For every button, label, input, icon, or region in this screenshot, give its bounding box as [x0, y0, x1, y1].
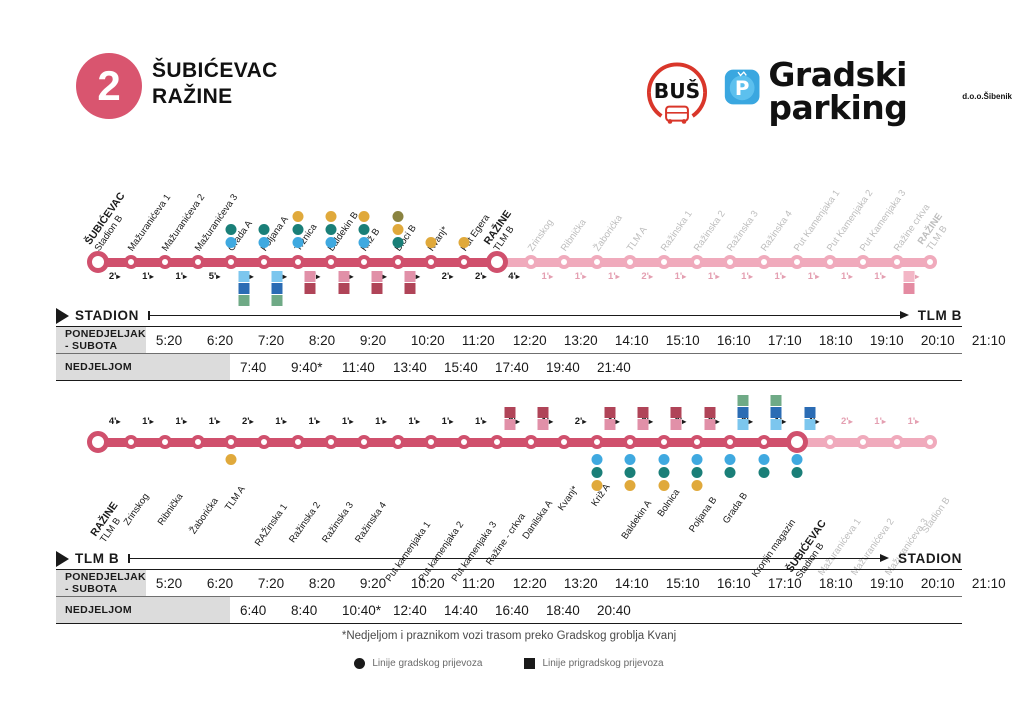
city-line-markers — [292, 211, 303, 248]
city-line-markers — [592, 454, 603, 491]
city-line-dot — [725, 454, 736, 465]
route-diagram-direction-2: 4'▸1'▸1'▸1'▸2'▸1'▸1'▸1'▸1'▸1'▸1'▸1'▸2'▸1… — [0, 400, 1018, 540]
suburban-line-markers — [505, 407, 516, 430]
table-row: NEDJELJOM6:408:4010:40*12:4014:4016:4018… — [56, 597, 962, 624]
stop-marker[interactable] — [224, 435, 238, 449]
suburban-line-markers — [272, 271, 283, 306]
parking-logo-subtext: d.o.o.Šibenik — [962, 92, 1012, 101]
suburban-line-square — [604, 407, 615, 418]
suburban-line-markers — [238, 271, 249, 306]
departure-time: 11:20 — [462, 576, 513, 591]
city-line-markers — [325, 211, 336, 248]
city-line-dot — [259, 237, 270, 248]
travel-time-8: 1'▸ — [342, 416, 354, 427]
departure-time: 10:40* — [342, 603, 393, 618]
suburban-line-markers — [338, 271, 349, 294]
stop-marker[interactable] — [890, 255, 904, 269]
departure-time: 13:40 — [393, 360, 444, 375]
suburban-line-square — [405, 283, 416, 294]
footnote: *Nedjeljom i praznikom vozi trasom preko… — [0, 630, 1018, 642]
gradski-parking-logo: P Gradski parking d.o.o.Šibenik — [724, 58, 1018, 118]
table-row: PONEDJELJAK - SUBOTA5:206:207:208:209:20… — [56, 570, 962, 597]
stop-marker[interactable] — [557, 255, 571, 269]
stop-label: Ražinska 4 — [353, 500, 389, 545]
stop-marker[interactable] — [357, 435, 371, 449]
timetable-1-header: STADION TLM B — [56, 305, 962, 327]
departure-time: 6:20 — [207, 576, 258, 591]
suburban-line-square — [704, 419, 715, 430]
suburban-line-markers — [704, 407, 715, 430]
stop-label: Ribnička — [155, 491, 185, 527]
city-line-dot — [425, 237, 436, 248]
stop-marker[interactable] — [790, 255, 804, 269]
suburban-line-square — [405, 271, 416, 282]
square-marker-icon — [524, 658, 535, 669]
city-line-dot — [459, 237, 470, 248]
city-line-dot — [592, 467, 603, 478]
stop-marker[interactable] — [291, 435, 305, 449]
suburban-line-markers — [737, 395, 748, 430]
travel-time-2: 1'▸ — [142, 416, 154, 427]
stop-label: RAŽINETLM B — [482, 208, 524, 254]
travel-time-12: 2'▸ — [475, 271, 487, 282]
departure-time: 10:20 — [411, 576, 462, 591]
city-line-dot — [226, 224, 237, 235]
suburban-line-markers — [405, 271, 416, 294]
schedule-times: 5:206:207:208:209:2010:2011:2012:2013:20… — [146, 327, 1018, 353]
stop-marker[interactable] — [657, 255, 671, 269]
departure-time: 18:40 — [546, 603, 597, 618]
city-line-markers — [791, 454, 802, 478]
suburban-line-markers — [604, 407, 615, 430]
stop-label: TLM A — [223, 484, 248, 513]
travel-time-1: 2'▸ — [109, 271, 121, 282]
departure-time: 12:20 — [513, 576, 564, 591]
legend-suburban-label: Linije prigradskog prijevoza — [542, 658, 663, 669]
city-line-markers — [392, 211, 403, 248]
stop-marker[interactable] — [391, 255, 405, 269]
suburban-line-square — [604, 419, 615, 430]
stop-label: Ribnička — [559, 217, 589, 253]
city-line-dot — [359, 237, 370, 248]
stop-marker[interactable] — [490, 435, 504, 449]
city-line-dot — [758, 467, 769, 478]
stop-label: Poljana B — [687, 495, 720, 535]
travel-time-19: 1'▸ — [708, 271, 720, 282]
stop-marker[interactable] — [856, 435, 870, 449]
parking-logo-text: Gradski parking — [768, 58, 1018, 124]
departure-time: 16:10 — [717, 576, 768, 591]
suburban-line-square — [638, 407, 649, 418]
departure-time: 8:20 — [309, 333, 360, 348]
departure-time: 20:10 — [921, 333, 972, 348]
travel-time-1: 4'▸ — [109, 416, 121, 427]
stop-marker[interactable] — [757, 255, 771, 269]
stop-marker[interactable] — [424, 435, 438, 449]
departure-time: 6:20 — [207, 333, 258, 348]
legend-item-city-lines: Linije gradskog prijevoza — [354, 658, 482, 669]
suburban-line-markers — [538, 407, 549, 430]
travel-time-24: 1'▸ — [874, 416, 886, 427]
departure-time: 13:20 — [564, 576, 615, 591]
city-line-dot — [625, 454, 636, 465]
timetable-1-destination: TLM B — [918, 308, 962, 323]
departure-time: 14:10 — [615, 333, 666, 348]
stop-marker[interactable] — [923, 435, 937, 449]
suburban-line-square — [305, 283, 316, 294]
suburban-line-square — [804, 419, 815, 430]
departure-time: 10:20 — [411, 333, 462, 348]
city-line-markers — [658, 454, 669, 491]
travel-time-9: 1'▸ — [375, 416, 387, 427]
schedule-times: 6:408:4010:40*12:4014:4016:4018:4020:40 — [230, 597, 962, 623]
city-line-markers — [725, 454, 736, 478]
schedule-day-label: NEDJELJOM — [56, 354, 230, 380]
suburban-line-square — [771, 395, 782, 406]
city-line-markers — [625, 454, 636, 491]
suburban-line-square — [737, 407, 748, 418]
parking-p-icon: P — [724, 66, 760, 108]
city-line-dot — [692, 480, 703, 491]
stop-marker[interactable] — [87, 251, 109, 273]
travel-time-15: 1'▸ — [575, 271, 587, 282]
stop-label: RAŽinska 1 — [253, 502, 290, 549]
stop-marker[interactable] — [158, 255, 172, 269]
departure-time: 9:40* — [291, 360, 342, 375]
city-line-dot — [658, 454, 669, 465]
stop-marker[interactable] — [324, 255, 338, 269]
city-line-dot — [292, 224, 303, 235]
stop-marker[interactable] — [623, 435, 637, 449]
svg-text:P: P — [735, 77, 750, 100]
city-line-markers — [226, 454, 237, 465]
stop-marker[interactable] — [124, 255, 138, 269]
suburban-line-square — [737, 395, 748, 406]
stop-marker[interactable] — [590, 435, 604, 449]
travel-time-25: 1'▸ — [908, 416, 920, 427]
departure-time: 19:40 — [546, 360, 597, 375]
stop-marker[interactable] — [324, 435, 338, 449]
city-line-markers — [692, 454, 703, 491]
stop-marker[interactable] — [87, 431, 109, 453]
stop-marker[interactable] — [191, 255, 205, 269]
timetable-2-header: TLM B STADION — [56, 548, 962, 570]
travel-time-24: 1'▸ — [874, 271, 886, 282]
stop-marker[interactable] — [257, 255, 271, 269]
suburban-line-square — [505, 407, 516, 418]
departure-time: 11:20 — [462, 333, 513, 348]
stop-marker[interactable] — [786, 431, 808, 453]
stop-marker[interactable] — [124, 435, 138, 449]
stop-marker[interactable] — [391, 435, 405, 449]
departure-time: 21:10 — [972, 333, 1018, 348]
departure-time: 17:40 — [495, 360, 546, 375]
schedule-times: 5:206:207:208:209:2010:2011:2012:2013:20… — [146, 570, 1018, 596]
timetable-2-origin: TLM B — [75, 551, 119, 566]
city-line-markers — [226, 224, 237, 248]
table-row: PONEDJELJAK - SUBOTA5:206:207:208:209:20… — [56, 327, 962, 354]
stop-label: TLM A — [625, 225, 650, 254]
timetable-1-origin: STADION — [75, 308, 139, 323]
stop-marker[interactable] — [823, 435, 837, 449]
departure-time: 20:10 — [921, 576, 972, 591]
stop-label: Ražinska 1 — [659, 209, 695, 254]
stop-label: Žaborićka — [188, 496, 221, 537]
suburban-line-square — [538, 407, 549, 418]
city-line-dot — [226, 237, 237, 248]
suburban-line-square — [804, 407, 815, 418]
city-line-dot — [692, 467, 703, 478]
suburban-line-markers — [904, 271, 915, 294]
city-line-dot — [392, 237, 403, 248]
stop-label: Ražinska 3 — [725, 209, 761, 254]
stop-marker[interactable] — [524, 435, 538, 449]
suburban-line-square — [671, 407, 682, 418]
city-line-dot — [325, 237, 336, 248]
suburban-line-square — [338, 271, 349, 282]
stop-marker[interactable] — [191, 435, 205, 449]
departure-time: 5:20 — [156, 333, 207, 348]
legend-city-label: Linije gradskog prijevoza — [372, 658, 482, 669]
play-triangle-icon — [56, 308, 69, 324]
schedule-day-label: NEDJELJOM — [56, 597, 230, 623]
stop-marker[interactable] — [590, 255, 604, 269]
stop-marker[interactable] — [757, 435, 771, 449]
travel-time-18: 1'▸ — [675, 271, 687, 282]
schedule-day-label: PONEDJELJAK - SUBOTA — [56, 570, 146, 596]
travel-time-16: 1'▸ — [608, 271, 620, 282]
travel-time-11: 2'▸ — [442, 271, 454, 282]
stop-marker[interactable] — [723, 255, 737, 269]
stop-label: Bolnica — [655, 487, 682, 519]
travel-time-23: 1'▸ — [841, 271, 853, 282]
stop-marker[interactable] — [856, 255, 870, 269]
city-line-markers — [425, 237, 436, 248]
city-line-dot — [791, 467, 802, 478]
suburban-line-square — [704, 407, 715, 418]
stop-label: Stadion B — [920, 495, 953, 535]
city-line-dot — [592, 480, 603, 491]
city-line-dot — [359, 211, 370, 222]
city-line-dot — [292, 237, 303, 248]
stop-label: Ražinska 3 — [320, 500, 356, 545]
suburban-line-markers — [804, 407, 815, 430]
route-title-line1: ŠUBIĆEVAC — [152, 58, 278, 84]
stop-marker[interactable] — [486, 251, 508, 273]
route-title-line2: RAŽINE — [152, 84, 278, 110]
suburban-line-square — [238, 271, 249, 282]
page-header: 2 ŠUBIĆEVAC RAŽINE BUŠ P Gradski parking… — [0, 0, 1018, 150]
suburban-line-markers — [638, 407, 649, 430]
suburban-line-square — [671, 419, 682, 430]
departure-time: 21:40 — [597, 360, 648, 375]
legend: Linije gradskog prijevoza Linije prigrad… — [0, 658, 1018, 669]
stop-marker[interactable] — [357, 255, 371, 269]
page-title: ŠUBIĆEVAC RAŽINE — [152, 58, 278, 109]
suburban-line-markers — [371, 271, 382, 294]
stop-label: Ražinska 2 — [287, 500, 323, 545]
schedule-times: 7:409:40*11:4013:4015:4017:4019:4021:40 — [230, 354, 962, 380]
departure-time: 15:10 — [666, 333, 717, 348]
suburban-line-markers — [671, 407, 682, 430]
stop-marker[interactable] — [224, 255, 238, 269]
travel-time-22: 1'▸ — [808, 271, 820, 282]
suburban-line-square — [638, 419, 649, 430]
departure-time: 20:40 — [597, 603, 648, 618]
departure-time: 17:10 — [768, 333, 819, 348]
suburban-line-square — [371, 283, 382, 294]
stop-label: Grada B — [721, 491, 750, 526]
stop-label: Baldekin A — [620, 498, 655, 541]
travel-time-4: 5'▸ — [209, 271, 221, 282]
travel-time-17: 2'▸ — [641, 271, 653, 282]
city-line-markers — [259, 224, 270, 248]
travel-time-2: 1'▸ — [142, 271, 154, 282]
departure-time: 18:10 — [819, 333, 870, 348]
departure-time: 15:40 — [444, 360, 495, 375]
direction-arrow — [148, 310, 909, 322]
stop-label: Kvanj* — [556, 484, 581, 513]
suburban-line-square — [538, 419, 549, 430]
suburban-line-square — [737, 419, 748, 430]
departure-time: 8:40 — [291, 603, 342, 618]
stop-marker[interactable] — [457, 255, 471, 269]
stop-marker[interactable] — [923, 255, 937, 269]
departure-time: 19:10 — [870, 576, 921, 591]
departure-time: 13:20 — [564, 333, 615, 348]
departure-time: 17:10 — [768, 576, 819, 591]
stop-label: Ražinska 4 — [758, 209, 794, 254]
departure-time: 16:40 — [495, 603, 546, 618]
stop-marker[interactable] — [291, 255, 305, 269]
suburban-line-square — [272, 271, 283, 282]
departure-time: 6:40 — [240, 603, 291, 618]
departure-time: 19:10 — [870, 333, 921, 348]
travel-time-4: 1'▸ — [209, 416, 221, 427]
circle-marker-icon — [354, 658, 365, 669]
travel-time-14: 1'▸ — [541, 271, 553, 282]
departure-time: 14:10 — [615, 576, 666, 591]
city-line-dot — [658, 480, 669, 491]
departure-time: 7:20 — [258, 333, 309, 348]
suburban-line-square — [904, 283, 915, 294]
suburban-line-square — [272, 283, 283, 294]
stop-marker[interactable] — [457, 435, 471, 449]
table-row: NEDJELJOM7:409:40*11:4013:4015:4017:4019… — [56, 354, 962, 381]
departure-time: 12:40 — [393, 603, 444, 618]
stop-marker[interactable] — [524, 255, 538, 269]
timetable-tlmb-to-stadion: TLM B STADION PONEDJELJAK - SUBOTA5:206:… — [56, 548, 962, 624]
stop-marker[interactable] — [557, 435, 571, 449]
departure-time: 12:20 — [513, 333, 564, 348]
departure-time: 18:10 — [819, 576, 870, 591]
stop-marker[interactable] — [723, 435, 737, 449]
departure-time: 9:20 — [360, 576, 411, 591]
departure-time: 11:40 — [342, 360, 393, 375]
stop-label: Zrinskog — [525, 217, 555, 253]
stop-marker[interactable] — [690, 435, 704, 449]
travel-time-23: 2'▸ — [841, 416, 853, 427]
suburban-line-square — [771, 419, 782, 430]
departure-time: 21:10 — [972, 576, 1018, 591]
svg-text:BUŠ: BUŠ — [654, 79, 701, 103]
stop-marker[interactable] — [823, 255, 837, 269]
suburban-line-markers — [771, 395, 782, 430]
schedule-day-label: PONEDJELJAK - SUBOTA — [56, 327, 146, 353]
stop-marker[interactable] — [158, 435, 172, 449]
departure-time: 5:20 — [156, 576, 207, 591]
suburban-line-square — [238, 283, 249, 294]
travel-time-11: 1'▸ — [442, 416, 454, 427]
city-line-dot — [392, 224, 403, 235]
suburban-line-markers — [305, 271, 316, 294]
play-triangle-icon — [56, 551, 69, 567]
direction-arrow — [128, 553, 889, 565]
route-number-badge: 2 — [76, 53, 142, 119]
suburban-line-square — [904, 271, 915, 282]
departure-time: 8:20 — [309, 576, 360, 591]
city-line-dot — [725, 467, 736, 478]
city-line-dot — [325, 211, 336, 222]
city-line-dot — [259, 224, 270, 235]
city-line-dot — [592, 454, 603, 465]
stop-marker[interactable] — [257, 435, 271, 449]
departure-time: 7:40 — [240, 360, 291, 375]
timetable-2-destination: STADION — [898, 551, 962, 566]
travel-time-15: 2'▸ — [575, 416, 587, 427]
departure-time: 15:10 — [666, 576, 717, 591]
suburban-line-square — [371, 271, 382, 282]
travel-time-3: 1'▸ — [175, 271, 187, 282]
city-line-dot — [758, 454, 769, 465]
departure-time: 9:20 — [360, 333, 411, 348]
timetable-stadion-to-tlmb: STADION TLM B PONEDJELJAK - SUBOTA5:206:… — [56, 305, 962, 381]
city-line-markers — [459, 237, 470, 248]
travel-time-7: 1'▸ — [309, 416, 321, 427]
stop-marker[interactable] — [890, 435, 904, 449]
suburban-line-square — [771, 407, 782, 418]
suburban-line-square — [338, 283, 349, 294]
stop-label: Zrinskog — [122, 491, 152, 527]
stop-marker[interactable] — [657, 435, 671, 449]
stop-marker[interactable] — [690, 255, 704, 269]
route-diagram-direction-1: 2'▸1'▸1'▸5'▸1'▸1'▸3'▸1'▸2'▸4'▸2'▸2'▸4'▸1… — [0, 170, 1018, 290]
legend-item-suburban-lines: Linije prigradskog prijevoza — [524, 658, 663, 669]
city-line-dot — [392, 211, 403, 222]
suburban-line-square — [505, 419, 516, 430]
departure-time: 14:40 — [444, 603, 495, 618]
travel-time-5: 2'▸ — [242, 416, 254, 427]
stop-marker[interactable] — [623, 255, 637, 269]
city-line-dot — [791, 454, 802, 465]
bus-logo-icon: BUŠ — [638, 52, 716, 130]
city-line-dot — [226, 454, 237, 465]
city-line-dot — [625, 480, 636, 491]
stop-label: Žaborićka — [592, 213, 625, 254]
travel-time-13: 4'▸ — [508, 271, 520, 282]
stop-label: Ražinska 2 — [692, 209, 728, 254]
stop-marker[interactable] — [424, 255, 438, 269]
city-line-dot — [625, 467, 636, 478]
city-line-markers — [758, 454, 769, 478]
departure-time: 7:20 — [258, 576, 309, 591]
city-line-dot — [692, 454, 703, 465]
city-line-dot — [359, 224, 370, 235]
travel-time-6: 1'▸ — [275, 416, 287, 427]
travel-time-21: 1'▸ — [774, 271, 786, 282]
city-line-dot — [658, 467, 669, 478]
travel-time-3: 1'▸ — [175, 416, 187, 427]
